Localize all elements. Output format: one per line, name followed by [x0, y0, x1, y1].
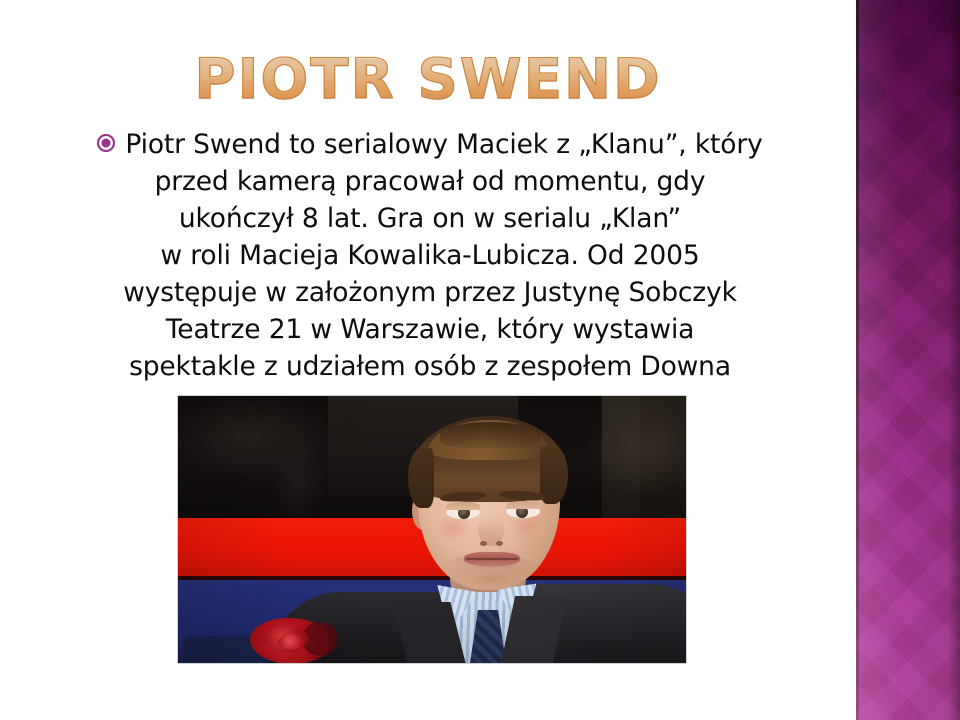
body-line-4: w roli Macieja Kowalika-Lubicza. Od 2005 [30, 237, 830, 274]
decorative-side-panel [856, 0, 960, 720]
side-panel-right-edge [948, 0, 960, 720]
body-line-1: Piotr Swend to serialowy Maciek z „Klanu… [125, 129, 762, 160]
body-line-7: spektakle z udziałem osób z zespołem Dow… [30, 348, 830, 385]
portrait-photo: Portrait photograph of a young man in a … [178, 396, 686, 663]
page-title-container: PIOTR SWEND [0, 52, 856, 107]
body-line-2: przed kamerą pracował od momentu, gdy [30, 163, 830, 200]
bullet-line: Piotr Swend to serialowy Maciek z „Klanu… [30, 126, 830, 163]
body-line-5: występuje w założonym przez Justynę Sobc… [30, 274, 830, 311]
body-line-6: Teatrze 21 w Warszawie, który wystawia [30, 311, 830, 348]
body-line-3: ukończył 8 lat. Gra on w serialu „Klan” [30, 200, 830, 237]
page-title: PIOTR SWEND [194, 52, 661, 107]
side-panel-sheen [856, 0, 960, 720]
body-text-block: Piotr Swend to serialowy Maciek z „Klanu… [30, 126, 830, 385]
photo-vignette [178, 396, 686, 663]
slide-canvas: PIOTR SWEND Piotr Swend to serialowy Mac… [0, 0, 960, 720]
ring-bullet-icon [97, 134, 115, 152]
side-panel-left-edge [856, 0, 859, 720]
